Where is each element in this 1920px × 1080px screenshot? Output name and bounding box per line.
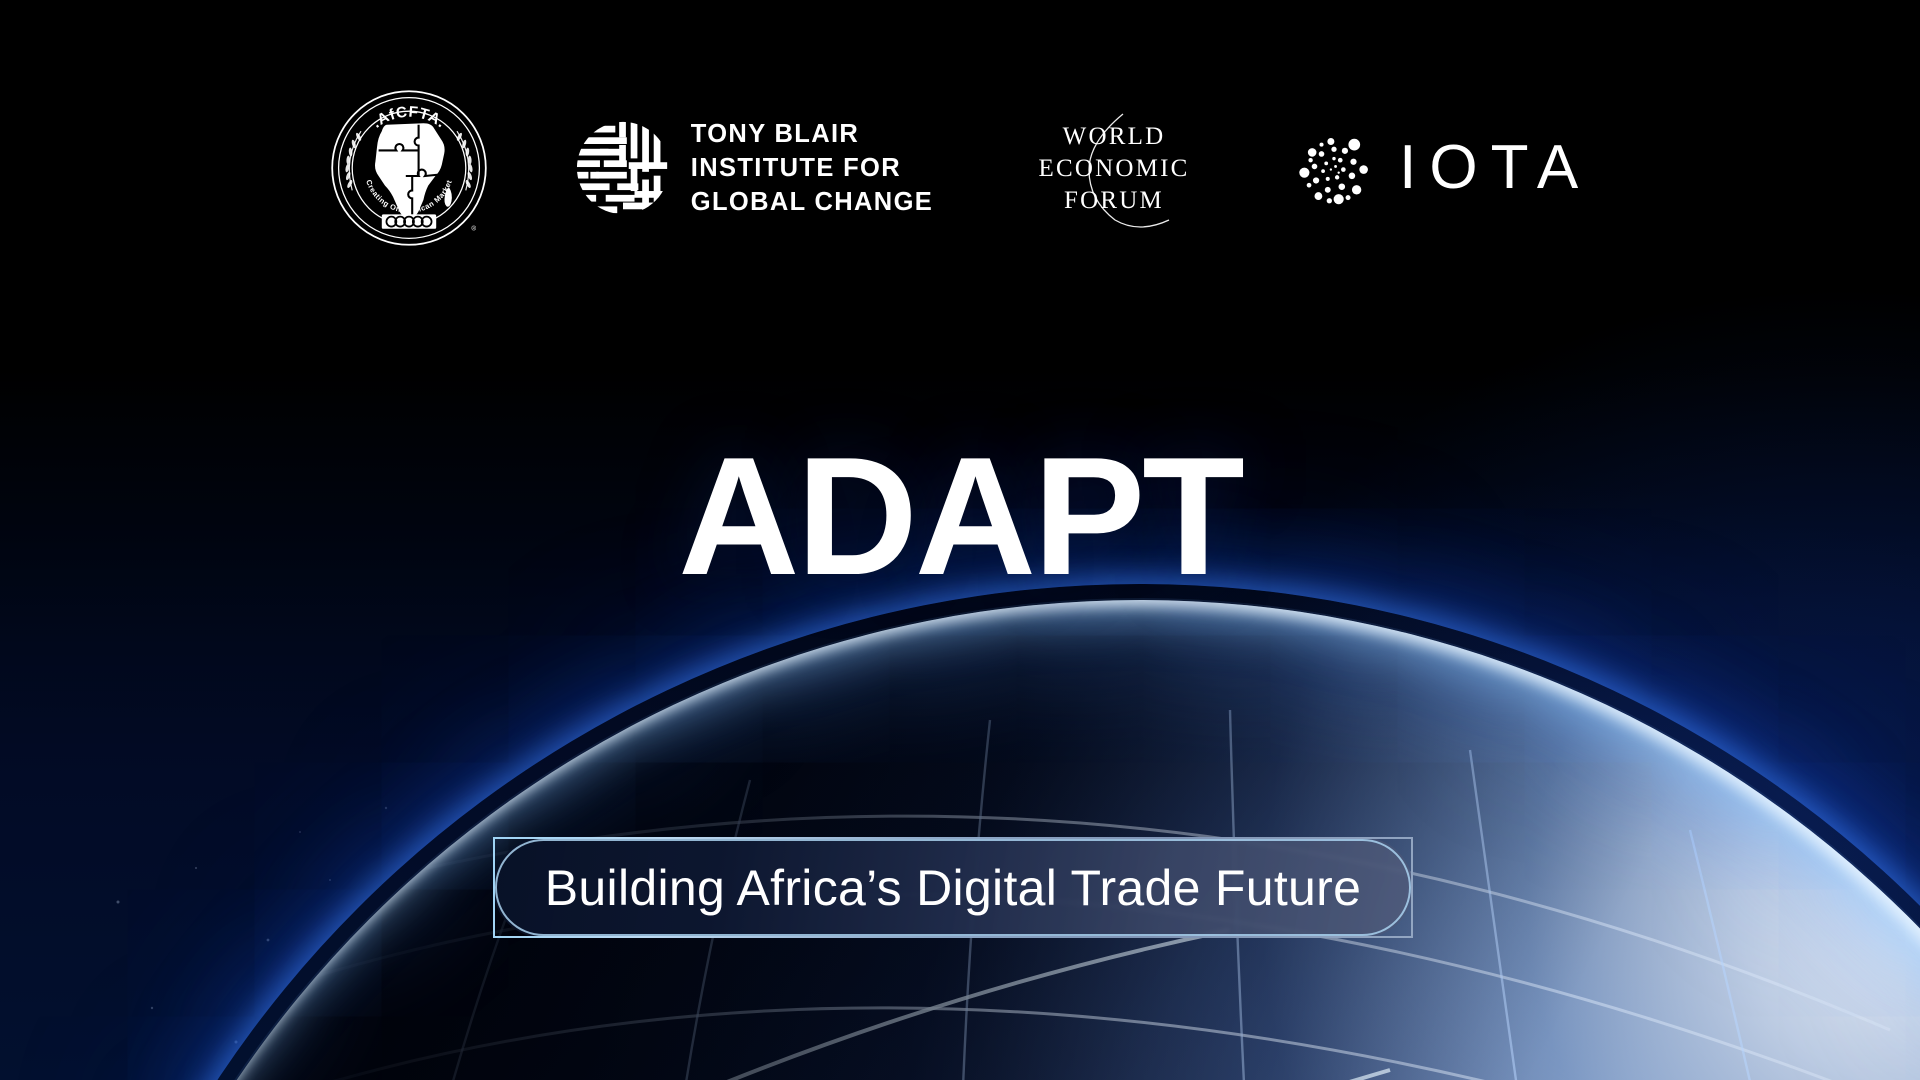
partner-logo-row: .AfCFTA. Creating One African Market xyxy=(0,88,1920,248)
logo-iota[interactable]: IOTA xyxy=(1295,129,1591,207)
logo-tony-blair-institute[interactable]: TONY BLAIR INSTITUTE FOR GLOBAL CHANGE xyxy=(575,117,933,219)
subtitle-pill: Building Africa’s Digital Trade Future xyxy=(493,837,1413,938)
page-title: ADAPT xyxy=(0,432,1920,600)
tbi-woven-circle-icon xyxy=(575,120,671,216)
iota-dot-spiral-icon xyxy=(1295,129,1373,207)
subtitle-text: Building Africa’s Digital Trade Future xyxy=(545,859,1361,917)
tbi-line-2: INSTITUTE FOR xyxy=(691,151,933,185)
afcfta-emblem-icon: .AfCFTA. Creating One African Market xyxy=(329,88,489,248)
logo-world-economic-forum[interactable]: WORLD ECONOMIC FORUM xyxy=(1019,108,1209,228)
tbi-line-1: TONY BLAIR xyxy=(691,117,933,151)
wef-circle-swoosh-icon: WORLD ECONOMIC FORUM xyxy=(1019,108,1209,228)
slide-canvas: .AfCFTA. Creating One African Market xyxy=(0,0,1920,1080)
wef-line-2: ECONOMIC xyxy=(1039,155,1190,182)
tbi-line-3: GLOBAL CHANGE xyxy=(691,185,933,219)
svg-text:®: ® xyxy=(471,224,476,232)
tbi-wordmark: TONY BLAIR INSTITUTE FOR GLOBAL CHANGE xyxy=(691,117,933,219)
logo-afcfta[interactable]: .AfCFTA. Creating One African Market xyxy=(329,88,489,248)
iota-wordmark: IOTA xyxy=(1399,137,1591,199)
wef-line-1: WORLD xyxy=(1063,123,1166,150)
wef-line-3: FORUM xyxy=(1064,187,1164,214)
